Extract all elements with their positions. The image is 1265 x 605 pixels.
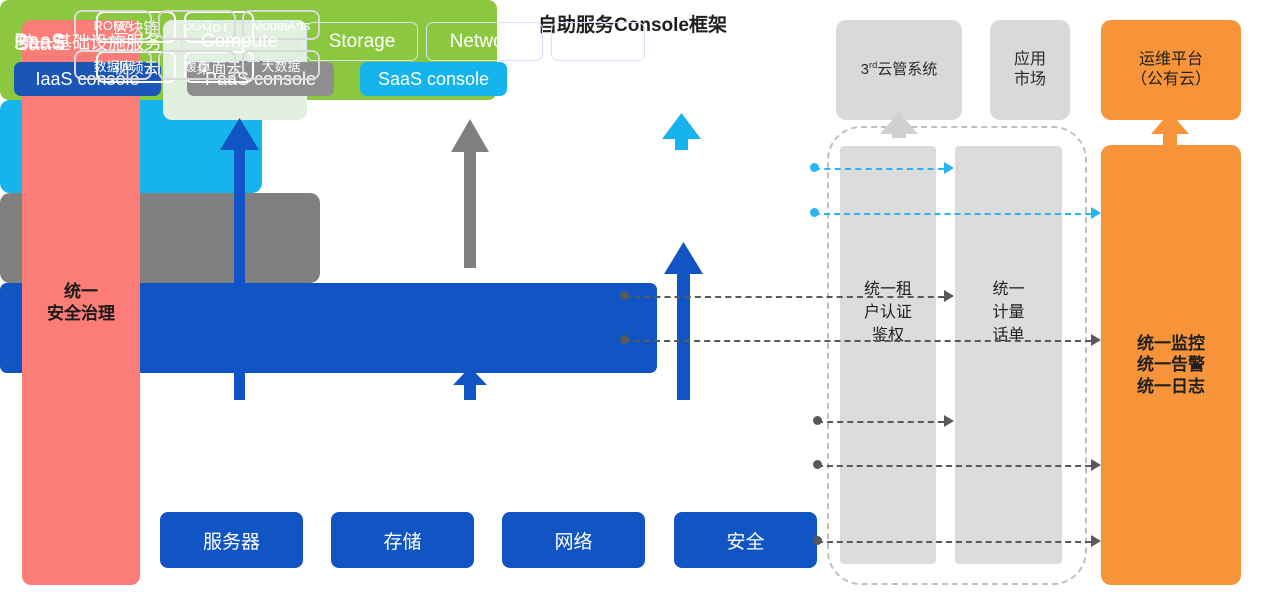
meter-line-1: 统一	[955, 278, 1062, 301]
connector-infra-to-ops	[817, 465, 1091, 467]
app-market-box: 应用 市场	[990, 20, 1070, 120]
arrow-saas-to-console	[662, 113, 701, 150]
saas-console-chip[interactable]: SaaS console	[360, 62, 507, 96]
ops-top-line-1: 运维平台	[1131, 50, 1211, 70]
connector-paas-to-ops	[624, 340, 1091, 342]
meter-line-2: 计量	[955, 301, 1062, 324]
resource-box-server[interactable]: 服务器	[160, 512, 303, 568]
infra-chip-compute[interactable]: Compute	[181, 22, 298, 61]
connector-arrowhead-resources	[1091, 535, 1101, 547]
unified-tenant-auth-column	[840, 146, 936, 564]
connector-arrowhead-infra-2	[1091, 459, 1101, 471]
connector-saas-to-metering	[814, 168, 944, 170]
third-party-cloud-management-box: 3rd云管系统	[836, 20, 962, 120]
infra-chip-storage-label: Storage	[329, 31, 396, 53]
unified-monitoring-panel: 统一监控 统一告警 统一日志	[1101, 145, 1241, 585]
unified-security-governance-panel: 统一 安全治理	[22, 20, 140, 585]
resource-box-server-label: 服务器	[203, 527, 260, 554]
infra-chip-compute-label: Compute	[201, 31, 278, 53]
infra-chip-network[interactable]: Network	[426, 22, 543, 61]
third-party-suffix: 云管系统	[877, 61, 937, 78]
app-market-line-1: 应用	[1014, 50, 1046, 70]
paas-chip-database-label: 数据库	[93, 56, 132, 75]
auth-line-3: 鉴权	[840, 324, 936, 347]
connector-arrowhead-paas-2	[1091, 334, 1101, 346]
security-line-1: 统一	[47, 281, 115, 302]
connector-arrowhead-saas-2	[1091, 207, 1101, 219]
auth-line-1: 统一租	[840, 278, 936, 301]
unified-tenant-auth-text: 统一租 户认证 鉴权	[840, 278, 936, 348]
arrow-paas-to-console	[451, 119, 489, 268]
third-party-prefix: 3	[861, 61, 869, 78]
arrow-infra-to-saas	[664, 242, 703, 400]
architecture-diagram-canvas: 统一 安全治理 API网关 自助服务Console框架 IaaS console…	[0, 0, 1265, 605]
meter-line-3: 话单	[955, 324, 1062, 347]
unified-infrastructure-label: 统一基础设施服务	[18, 29, 162, 55]
connector-arrowhead-saas-1	[944, 162, 954, 174]
ops-top-line-2: （公有云）	[1131, 70, 1211, 90]
infra-chip-storage[interactable]: Storage	[306, 22, 418, 61]
connector-paas-to-metering	[624, 296, 944, 298]
ops-panel-line-3: 统一日志	[1137, 376, 1205, 397]
resource-box-network-label: 网络	[554, 527, 592, 554]
ops-panel-line-2: 统一告警	[1137, 354, 1205, 375]
connector-resources-to-ops	[817, 541, 1091, 543]
connector-arrowhead-infra-1	[944, 415, 954, 427]
infra-chip-network-label: Network	[450, 31, 520, 53]
app-market-line-2: 市场	[1014, 70, 1046, 90]
connector-arrowhead-paas-1	[944, 290, 954, 302]
saas-console-label: SaaS console	[378, 69, 489, 90]
resource-box-storage[interactable]: 存储	[331, 512, 474, 568]
third-party-label: 3rd云管系统	[861, 60, 938, 80]
connector-saas-to-ops	[814, 213, 1091, 215]
connector-infra-to-metering	[817, 421, 944, 423]
ops-platform-public-cloud-box: 运维平台 （公有云）	[1101, 20, 1241, 120]
infra-chip-cce-label: CCE	[578, 31, 618, 53]
resource-box-security[interactable]: 安全	[674, 512, 817, 568]
unified-metering-column	[955, 146, 1062, 564]
resource-box-security-label: 安全	[726, 527, 764, 554]
unified-metering-text: 统一 计量 话单	[955, 278, 1062, 348]
infra-chip-cce[interactable]: CCE	[551, 22, 645, 61]
security-line-2: 安全治理	[47, 303, 115, 324]
auth-line-2: 户认证	[840, 301, 936, 324]
resource-box-storage-label: 存储	[383, 527, 421, 554]
ops-panel-line-1: 统一监控	[1137, 333, 1205, 354]
resource-box-network[interactable]: 网络	[502, 512, 645, 568]
